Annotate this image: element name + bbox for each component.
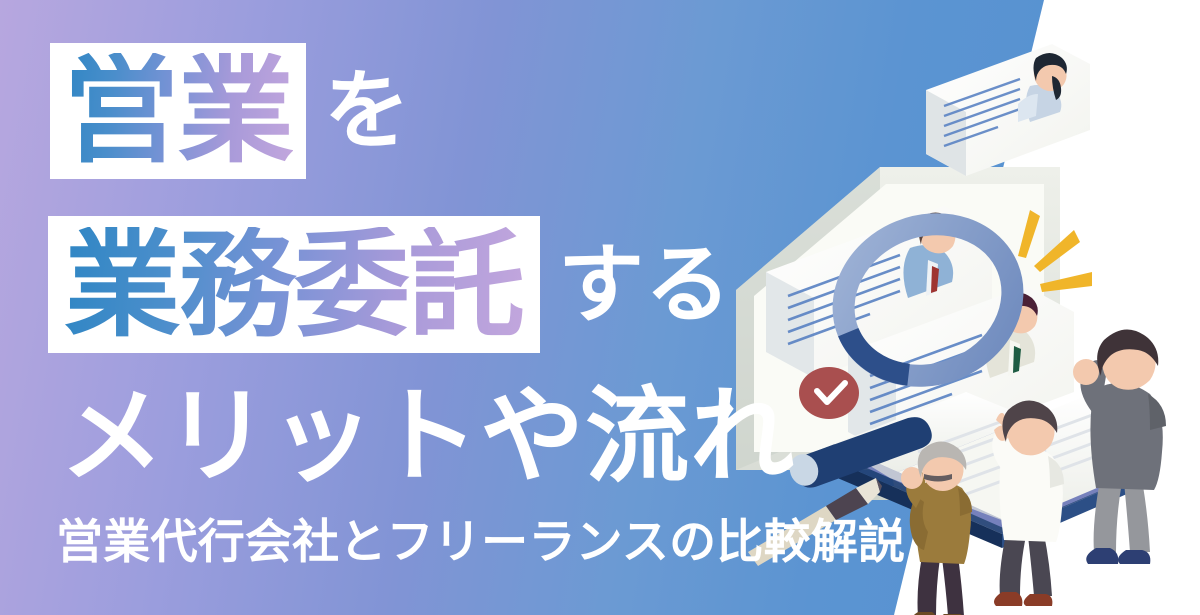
headline-line-3: メリットや流れ [60,385,795,489]
person-standing-white-shirt [992,400,1064,606]
subtitle-text: 営業代行会社とフリーランスの比較解説 [56,518,905,565]
headline-highlight-box-2: 業務委託 [48,216,540,353]
headline-line-1: 営業 を [50,43,411,179]
headline-highlight-box-1: 営業 [50,43,306,179]
headline-line-2: 業務委託 する [48,216,732,353]
person-standing-beige-coat [901,441,972,615]
banner-root: 営業 を 業務委託 する メリットや流れ 営業代行会社とフリーランスの比較解説 [0,0,1200,615]
headline-block: 営業 を 業務委託 する メリットや流れ 営業代行会社とフリーランスの比較解説 [0,0,780,615]
check-badge [799,367,859,419]
headline-line-3-text: メリットや流れ [60,385,795,489]
headline-highlight-text-2: 業務委託 [64,227,523,343]
headline-tail-1: を [324,68,411,154]
headline-highlight-text-1: 営業 [63,53,293,169]
subtitle: 営業代行会社とフリーランスの比較解説 [56,518,905,565]
headline-tail-2: する [558,242,732,328]
